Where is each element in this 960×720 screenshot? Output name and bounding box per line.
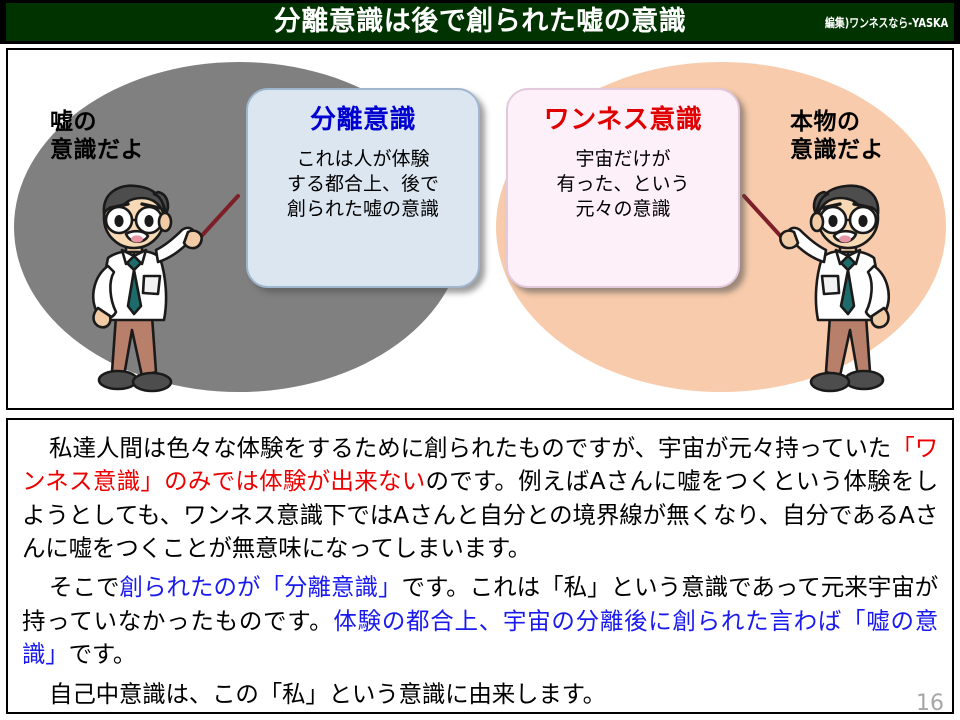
body-text-panel: 私達人間は色々な体験をするために創られたものですが、宇宙が元々持っていた「ワンネ…	[6, 418, 954, 714]
concept-box-separation-body: これは人が体験 する都合上、後で 創られた嘘の意識	[248, 147, 478, 222]
page-number: 16	[916, 691, 944, 716]
body-paragraph-2: そこで創られたのが「分離意識」です。これは「私」という意識であって元来宇宙が持っ…	[22, 571, 938, 671]
teacher-figure-right	[726, 180, 936, 410]
slide-header: 分離意識は後で創られた嘘の意識 編集)ワンネスなら-YASKA	[0, 0, 960, 44]
text-run: 私達人間は色々な体験をするために創られたものですが、宇宙が元々持っていた	[49, 434, 891, 462]
concept-box-separation-title: 分離意識	[248, 106, 478, 135]
concept-box-oneness[interactable]: ワンネス意識 宇宙だけが 有った、という 元々の意識	[506, 88, 740, 288]
text-run: そこで	[49, 573, 120, 601]
left-ellipse-label: 嘘の 意識だよ	[50, 108, 144, 164]
text-run: です。	[69, 640, 137, 668]
header-credit: 編集)ワンネスなら-YASKA	[825, 14, 948, 31]
right-ellipse-label: 本物の 意識だよ	[790, 108, 884, 164]
text-run: 自己中意識は、この「私」という意識に由来します。	[49, 680, 606, 708]
concept-box-oneness-body: 宇宙だけが 有った、という 元々の意識	[508, 147, 738, 222]
concept-box-separation[interactable]: 分離意識 これは人が体験 する都合上、後で 創られた嘘の意識	[246, 88, 480, 288]
body-paragraph-1: 私達人間は色々な体験をするために創られたものですが、宇宙が元々持っていた「ワンネ…	[22, 432, 938, 565]
text-run: 創られたのが「分離意識」	[120, 573, 402, 601]
body-paragraph-3: 自己中意識は、この「私」という意識に由来します。	[22, 678, 938, 711]
slide-root: 分離意識は後で創られた嘘の意識 編集)ワンネスなら-YASKA 嘘の 意識だよ …	[0, 0, 960, 720]
teacher-figure-left	[46, 180, 256, 410]
diagram-panel: 嘘の 意識だよ 本物の 意識だよ	[6, 48, 954, 410]
page-title: 分離意識は後で創られた嘘の意識	[6, 3, 954, 41]
concept-box-oneness-title: ワンネス意識	[508, 106, 738, 135]
header-green-band: 分離意識は後で創られた嘘の意識 編集)ワンネスなら-YASKA	[6, 3, 954, 41]
